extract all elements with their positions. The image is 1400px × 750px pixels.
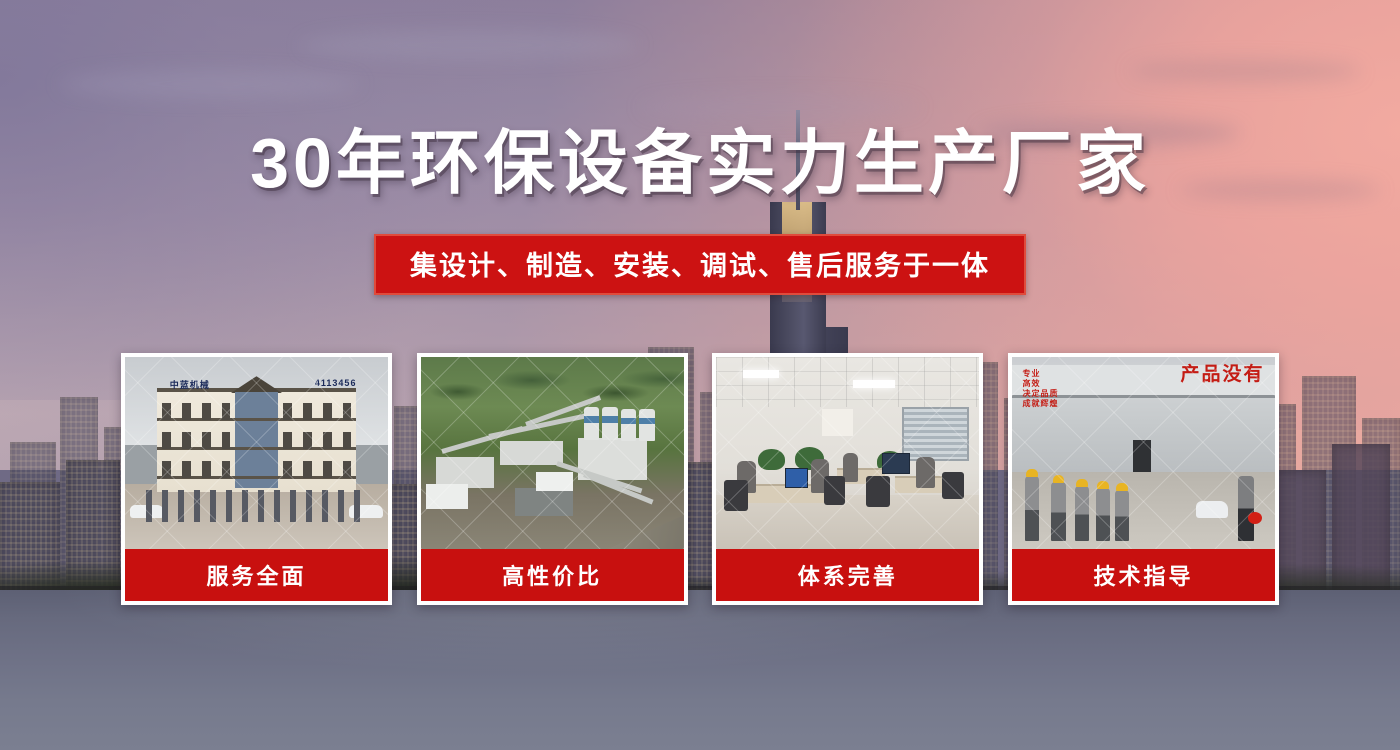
card-photo-factory: 产品没有 专业高效决定品质成就辉煌	[1012, 357, 1275, 549]
subtitle-row: 集设计、制造、安装、调试、售后服务于一体	[0, 234, 1400, 295]
feature-card[interactable]: 中蓝机械 4113456 服务全面	[121, 353, 392, 605]
feature-card[interactable]: 产品没有 专业高效决定品质成就辉煌 技术指导	[1008, 353, 1279, 605]
feature-card[interactable]: 体系完善	[712, 353, 983, 605]
building-phone-text: 4113456	[315, 378, 357, 388]
feature-card[interactable]: 高性价比	[417, 353, 688, 605]
card-caption: 服务全面	[125, 549, 388, 601]
card-caption: 体系完善	[716, 549, 979, 601]
supervisor-figure	[1238, 476, 1254, 541]
red-helmet	[1248, 512, 1262, 524]
water-sheen	[0, 590, 1400, 750]
promo-banner: 30年环保设备实力生产厂家 集设计、制造、安装、调试、售后服务于一体	[0, 0, 1400, 750]
staff-lineup	[146, 490, 367, 523]
page-title: 30年环保设备实力生产厂家	[0, 128, 1400, 198]
card-caption: 技术指导	[1012, 549, 1275, 601]
subtitle-badge: 集设计、制造、安装、调试、售后服务于一体	[374, 234, 1026, 295]
card-caption: 高性价比	[421, 549, 684, 601]
card-photo-headquarters: 中蓝机械 4113456	[125, 357, 388, 549]
card-photo-office	[716, 357, 979, 549]
card-photo-plant	[421, 357, 684, 549]
factory-slogan-text: 产品没有	[1180, 365, 1264, 384]
building-sign-text: 中蓝机械	[170, 378, 210, 391]
factory-slogan-small: 专业高效决定品质成就辉煌	[1022, 369, 1058, 409]
feature-card-row: 中蓝机械 4113456 服务全面	[121, 353, 1279, 605]
